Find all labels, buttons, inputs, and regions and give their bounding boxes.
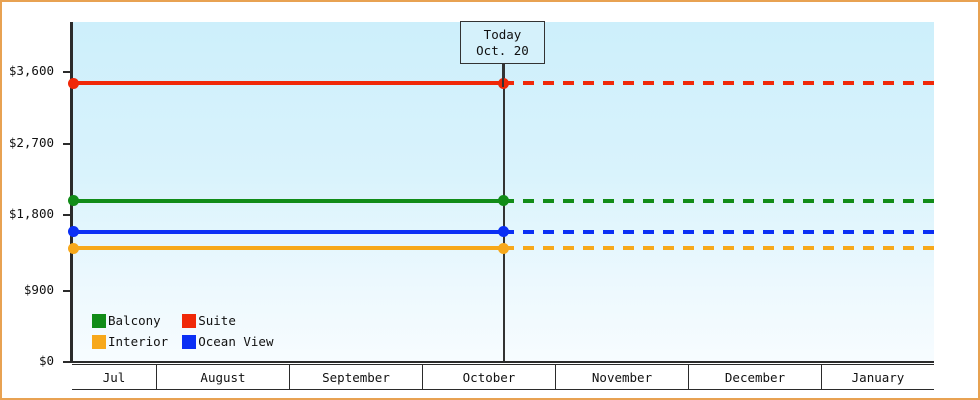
series-today-marker[interactable] xyxy=(498,195,509,206)
legend-item[interactable]: Suite xyxy=(182,313,273,328)
series-line-solid xyxy=(73,199,503,203)
series-line-solid xyxy=(73,246,503,250)
today-label-line2: Oct. 20 xyxy=(476,43,529,59)
y-tick-label: $3,600 xyxy=(9,63,54,78)
legend-item[interactable]: Interior xyxy=(92,334,168,349)
month-axis-cell[interactable]: Jul xyxy=(72,365,157,389)
legend-item-label: Ocean View xyxy=(198,334,273,349)
y-tick-label: $1,800 xyxy=(9,206,54,221)
legend-swatch-icon xyxy=(92,314,106,328)
month-axis-cell[interactable]: January xyxy=(822,365,934,389)
y-tick-mark xyxy=(63,214,71,216)
series-start-marker[interactable] xyxy=(68,78,79,89)
series-line-dashed-forecast xyxy=(503,246,934,250)
legend-swatch-icon xyxy=(182,314,196,328)
legend-item[interactable]: Ocean View xyxy=(182,334,273,349)
chart-legend: BalconySuiteInteriorOcean View xyxy=(92,313,273,349)
today-annotation-box: Today Oct. 20 xyxy=(460,21,545,64)
y-tick-label: $2,700 xyxy=(9,135,54,150)
series-line-dashed-forecast xyxy=(503,230,934,234)
month-axis-cell[interactable]: October xyxy=(423,365,556,389)
chart-container: $3,600$2,700$1,800$900$0 Today Oct. 20 B… xyxy=(0,0,980,400)
legend-swatch-icon xyxy=(182,335,196,349)
plot-area xyxy=(73,22,934,362)
today-connector-line xyxy=(502,63,504,87)
y-tick-label: $0 xyxy=(39,353,54,368)
series-start-marker[interactable] xyxy=(68,243,79,254)
y-tick-mark xyxy=(63,143,71,145)
month-axis: JulAugustSeptemberOctoberNovemberDecembe… xyxy=(72,364,934,390)
legend-item-label: Interior xyxy=(108,334,168,349)
y-axis-line xyxy=(70,22,73,363)
series-line-dashed-forecast xyxy=(503,199,934,203)
series-line-solid xyxy=(73,81,503,85)
series-today-marker[interactable] xyxy=(498,243,509,254)
legend-swatch-icon xyxy=(92,335,106,349)
y-tick-mark xyxy=(63,290,71,292)
legend-item-label: Balcony xyxy=(108,313,161,328)
month-axis-cell[interactable]: August xyxy=(157,365,290,389)
legend-item[interactable]: Balcony xyxy=(92,313,168,328)
y-tick-mark xyxy=(63,71,71,73)
y-tick-label: $900 xyxy=(24,282,54,297)
legend-item-label: Suite xyxy=(198,313,236,328)
month-axis-cell[interactable]: December xyxy=(689,365,822,389)
x-axis-line xyxy=(70,361,934,363)
month-axis-cell[interactable]: November xyxy=(556,365,689,389)
today-label-line1: Today xyxy=(484,27,522,43)
series-line-dashed-forecast xyxy=(503,81,934,85)
series-line-solid xyxy=(73,230,503,234)
month-axis-cell[interactable]: September xyxy=(290,365,423,389)
series-today-marker[interactable] xyxy=(498,226,509,237)
y-tick-mark xyxy=(63,361,71,363)
